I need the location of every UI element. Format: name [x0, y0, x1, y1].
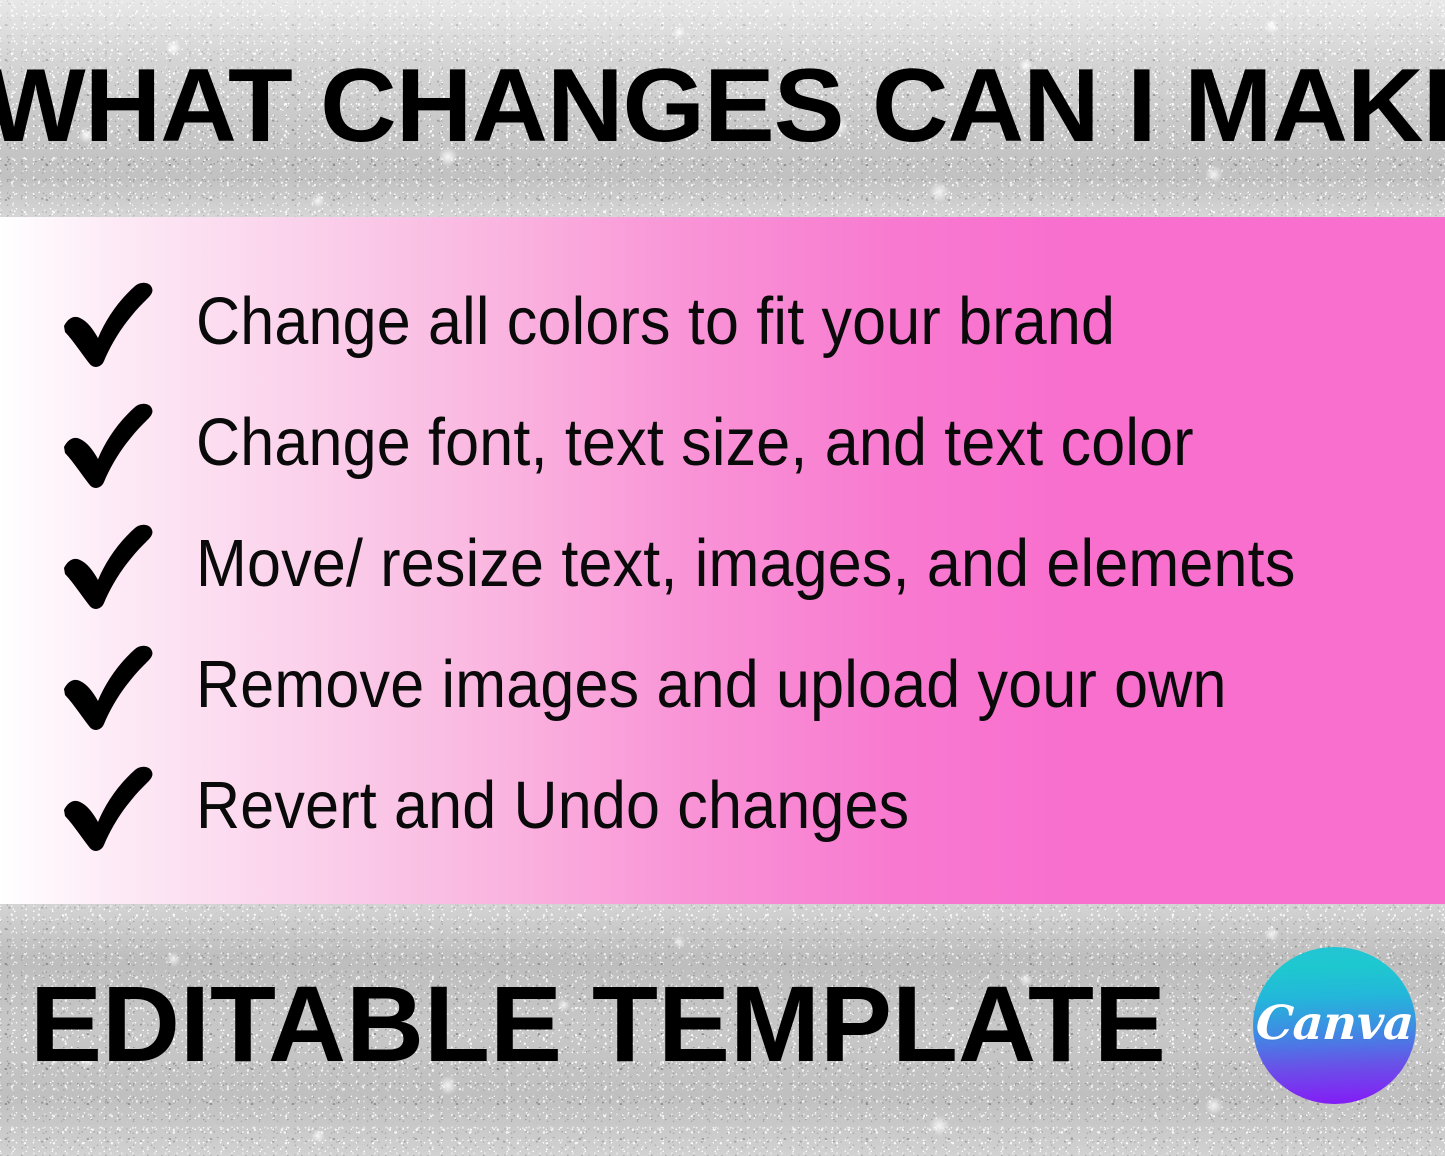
list-item: Change font, text size, and text color	[0, 382, 1445, 503]
checklist: Change all colors to fit your brand Chan…	[0, 217, 1445, 904]
check-icon	[58, 758, 158, 854]
check-icon	[58, 516, 158, 612]
poster-canvas: WHAT CHANGES CAN I MAKE? Change all colo…	[0, 0, 1445, 1156]
list-item-label: Remove images and upload your own	[196, 649, 1227, 719]
list-item-label: Move/ resize text, images, and elements	[196, 528, 1296, 598]
list-item: Revert and Undo changes	[0, 745, 1445, 866]
checklist-panel: Change all colors to fit your brand Chan…	[0, 217, 1445, 904]
list-item-label: Change all colors to fit your brand	[196, 286, 1115, 356]
list-item: Change all colors to fit your brand	[0, 261, 1445, 382]
canva-logo-badge: Canva	[1253, 947, 1416, 1104]
check-icon	[58, 274, 158, 370]
list-item-label: Revert and Undo changes	[196, 770, 909, 840]
canva-wordmark: Canva	[1254, 1000, 1415, 1047]
footer-title: EDITABLE TEMPLATE	[30, 970, 1230, 1078]
list-item: Move/ resize text, images, and elements	[0, 503, 1445, 624]
check-icon	[58, 637, 158, 733]
list-item-label: Change font, text size, and text color	[196, 407, 1194, 477]
check-icon	[58, 395, 158, 491]
list-item: Remove images and upload your own	[0, 624, 1445, 745]
page-title: WHAT CHANGES CAN I MAKE?	[0, 54, 1445, 158]
